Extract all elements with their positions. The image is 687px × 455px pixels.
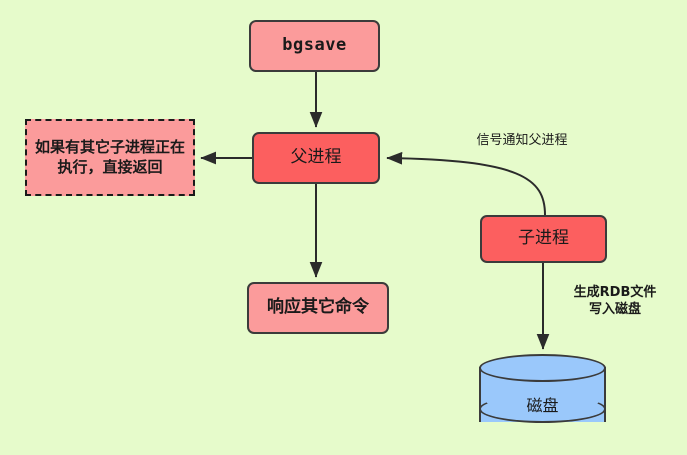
node-parent-process-label: 父进程 — [291, 147, 342, 169]
cylinder-top-ellipse — [479, 354, 606, 382]
node-bgsave-label: bgsave — [282, 35, 346, 57]
node-disk-label: 磁盘 — [479, 392, 606, 416]
node-early-return-note-label: 如果有其它子进程正在执行，直接返回 — [33, 138, 187, 176]
edge-label-signal-notify-parent: 信号通知父进程 — [452, 133, 592, 150]
node-child-process-label: 子进程 — [518, 228, 569, 250]
node-disk-cylinder[interactable]: 磁盘 — [479, 354, 606, 432]
edge-label-generate-rdb-write-disk: 生成RDB文件 写入磁盘 — [555, 285, 675, 319]
node-parent-process[interactable]: 父进程 — [252, 132, 380, 184]
node-bgsave[interactable]: bgsave — [249, 20, 380, 72]
node-respond-other-commands[interactable]: 响应其它命令 — [247, 282, 389, 334]
node-child-process[interactable]: 子进程 — [480, 215, 607, 263]
node-respond-other-commands-label: 响应其它命令 — [267, 297, 369, 319]
edge-child-to-parent-signal — [387, 158, 545, 215]
node-early-return-note[interactable]: 如果有其它子进程正在执行，直接返回 — [25, 119, 195, 196]
